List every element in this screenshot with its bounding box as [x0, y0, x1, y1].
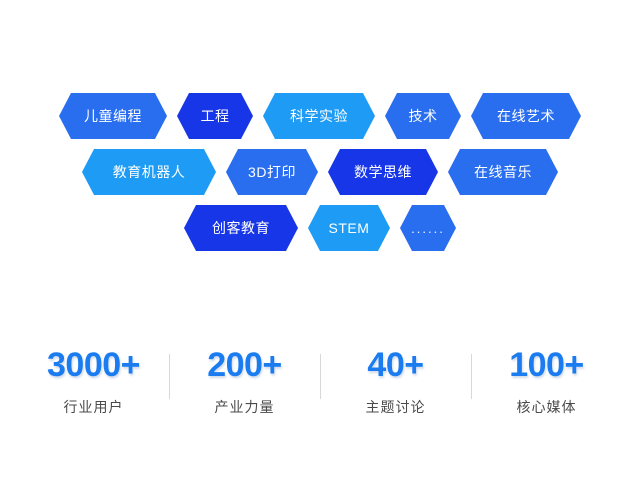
hexagon-tag-label: STEM: [329, 221, 370, 235]
hexagon-tag[interactable]: 在线艺术: [471, 93, 581, 139]
hexagon-tag-label: 教育机器人: [113, 165, 186, 179]
stat-value: 40+: [367, 348, 423, 384]
hexagon-tag-label: 科学实验: [290, 109, 348, 123]
hexagon-tag[interactable]: 工程: [177, 93, 253, 139]
tag-row: 儿童编程工程科学实验技术在线艺术: [0, 88, 640, 144]
stat-cell: 100+核心媒体: [472, 348, 622, 417]
hexagon-tag[interactable]: 科学实验: [263, 93, 375, 139]
hexagon-tag-label: 数学思维: [354, 165, 412, 179]
hexagon-tag-cloud: 儿童编程工程科学实验技术在线艺术教育机器人3D打印数学思维在线音乐创客教育STE…: [0, 88, 640, 256]
hexagon-tag-label: 创客教育: [212, 221, 270, 235]
hexagon-tag[interactable]: 技术: [385, 93, 461, 139]
stat-cell: 40+主题讨论: [321, 348, 471, 417]
stat-value: 100+: [509, 348, 584, 384]
hexagon-tag[interactable]: 在线音乐: [448, 149, 558, 195]
hexagon-tag-label: 在线艺术: [497, 109, 555, 123]
hexagon-tag-label: 技术: [409, 109, 438, 123]
hexagon-tag[interactable]: 创客教育: [184, 205, 298, 251]
stat-label: 核心媒体: [517, 397, 577, 417]
tag-row: 创客教育STEM......: [0, 200, 640, 256]
hexagon-tag[interactable]: 教育机器人: [82, 149, 216, 195]
hexagon-tag[interactable]: 儿童编程: [59, 93, 167, 139]
stat-value: 200+: [207, 348, 282, 384]
hexagon-tag[interactable]: 3D打印: [226, 149, 318, 195]
slide-canvas: 儿童编程工程科学实验技术在线艺术教育机器人3D打印数学思维在线音乐创客教育STE…: [0, 0, 640, 498]
stat-cell: 200+产业力量: [170, 348, 320, 417]
hexagon-tag-label: 工程: [201, 109, 230, 123]
tag-row: 教育机器人3D打印数学思维在线音乐: [0, 144, 640, 200]
hexagon-tag-label: ......: [411, 222, 445, 235]
statistics-strip: 3000+行业用户200+产业力量40+主题讨论100+核心媒体: [0, 348, 640, 417]
hexagon-tag-label: 儿童编程: [84, 109, 142, 123]
hexagon-tag[interactable]: ......: [400, 205, 456, 251]
stat-label: 主题讨论: [366, 397, 426, 417]
hexagon-tag-label: 在线音乐: [474, 165, 532, 179]
hexagon-tag[interactable]: 数学思维: [328, 149, 438, 195]
stat-value: 3000+: [47, 348, 140, 384]
stat-label: 行业用户: [64, 397, 124, 417]
stat-label: 产业力量: [215, 397, 275, 417]
hexagon-tag-label: 3D打印: [248, 165, 296, 179]
stat-cell: 3000+行业用户: [19, 348, 169, 417]
hexagon-tag[interactable]: STEM: [308, 205, 390, 251]
